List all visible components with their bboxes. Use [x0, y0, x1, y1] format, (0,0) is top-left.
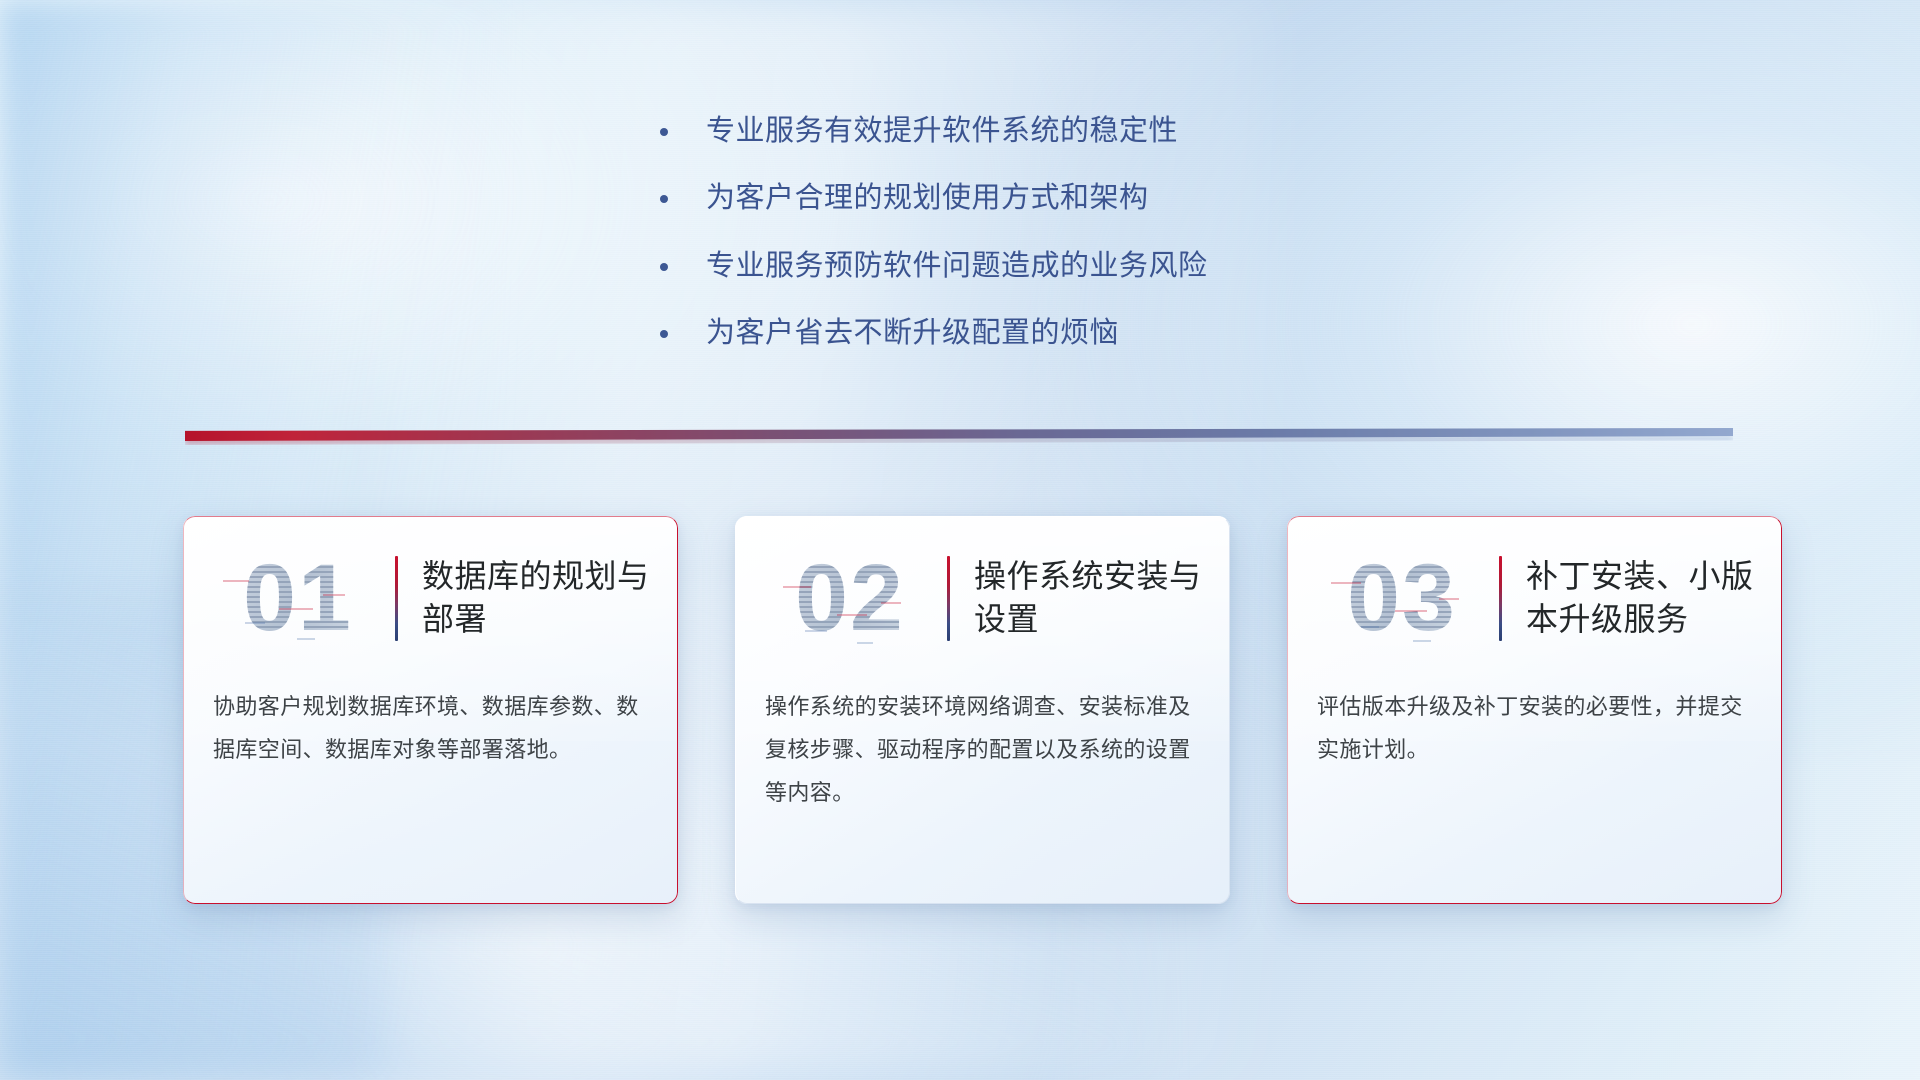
bullet-dot-icon [660, 330, 668, 338]
bullet-dot-icon [660, 128, 668, 136]
card-body-text: 评估版本升级及补丁安装的必要性，并提交实施计划。 [1287, 652, 1782, 772]
service-card-02[interactable]: 02 操作系统安装与设置 操作系统的安装环境网络调查、安装标准及复核步骤、驱动程… [735, 516, 1230, 904]
card-header: 03 补丁安装、小版本升级服务 [1287, 516, 1782, 652]
card-row: 01 数据库的规划与部署 协助客户规划数据库环境、数据库参数、数据库空间、数据库… [183, 516, 1783, 904]
slide-canvas: 专业服务有效提升软件系统的稳定性 为客户合理的规划使用方式和架构 专业服务预防软… [0, 0, 1920, 1080]
card-divider [1499, 556, 1502, 641]
bullet-dot-icon [660, 195, 668, 203]
card-divider [947, 556, 950, 641]
list-item: 为客户合理的规划使用方式和架构 [660, 179, 1480, 217]
bullet-list: 专业服务有效提升软件系统的稳定性 为客户合理的规划使用方式和架构 专业服务预防软… [660, 112, 1480, 381]
section-separator [185, 428, 1733, 441]
card-body-text: 协助客户规划数据库环境、数据库参数、数据库空间、数据库对象等部署落地。 [183, 652, 678, 772]
service-card-01[interactable]: 01 数据库的规划与部署 协助客户规划数据库环境、数据库参数、数据库空间、数据库… [183, 516, 678, 904]
card-header: 02 操作系统安装与设置 [735, 516, 1230, 652]
list-item: 专业服务预防软件问题造成的业务风险 [660, 247, 1480, 285]
list-item: 专业服务有效提升软件系统的稳定性 [660, 112, 1480, 150]
card-body-text: 操作系统的安装环境网络调查、安装标准及复核步骤、驱动程序的配置以及系统的设置等内… [735, 652, 1230, 815]
card-title: 数据库的规划与部署 [422, 555, 652, 641]
card-number: 01 [205, 551, 391, 646]
card-number: 02 [757, 551, 943, 646]
card-title: 操作系统安装与设置 [974, 555, 1204, 641]
card-divider [395, 556, 398, 641]
service-card-03[interactable]: 03 补丁安装、小版本升级服务 评估版本升级及补丁安装的必要性，并提交实施计划。 [1287, 516, 1782, 904]
card-header: 01 数据库的规划与部署 [183, 516, 678, 652]
bullet-text: 为客户合理的规划使用方式和架构 [706, 179, 1149, 217]
list-item: 为客户省去不断升级配置的烦恼 [660, 314, 1480, 352]
card-number: 03 [1309, 551, 1495, 646]
card-title: 补丁安装、小版本升级服务 [1526, 555, 1756, 641]
bullet-text: 专业服务预防软件问题造成的业务风险 [706, 247, 1208, 285]
bullet-text: 专业服务有效提升软件系统的稳定性 [706, 112, 1178, 150]
bullet-dot-icon [660, 263, 668, 271]
bullet-text: 为客户省去不断升级配置的烦恼 [706, 314, 1119, 352]
